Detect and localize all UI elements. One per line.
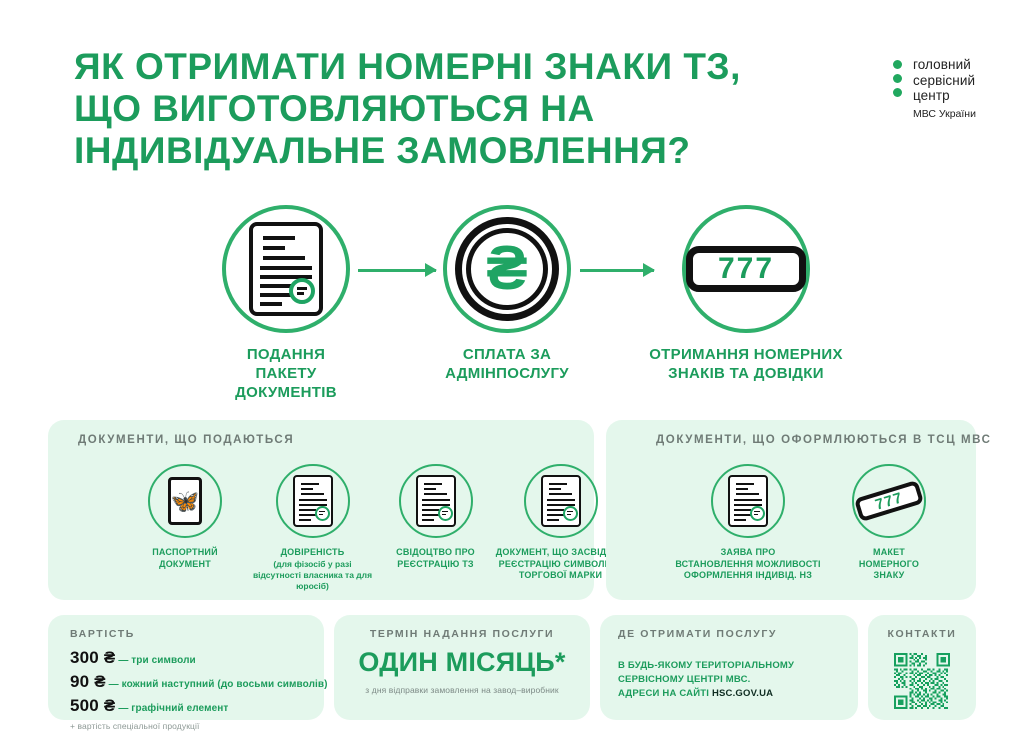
documents-issued-title: ДОКУМЕНТИ, ЩО ОФОРМЛЮЮТЬСЯ В ТСЦ МВС	[656, 434, 992, 446]
cost-row: 90 ₴ — кожний наступний (до восьми симво…	[70, 672, 328, 694]
doc-circle	[399, 464, 473, 538]
license-plate-tilted-icon: 777	[854, 480, 924, 522]
qr-code-icon[interactable]	[894, 653, 950, 709]
where-card: ДЕ ОТРИМАТИ ПОСЛУГУ В БУДЬ-ЯКОМУ ТЕРИТОР…	[600, 615, 858, 720]
cost-amount: 500 ₴	[70, 696, 115, 715]
title-line-3: ІНДИВІДУАЛЬНЕ ЗАМОВЛЕННЯ?	[74, 130, 834, 172]
flow-step-1-circle	[222, 205, 350, 333]
flow-arrow-1-icon	[358, 269, 436, 272]
cost-row: 300 ₴ — три символи	[70, 648, 328, 670]
document-icon	[249, 222, 323, 316]
cost-amount: 90 ₴	[70, 672, 106, 691]
cost-note: + вартість спеціальної продукції	[70, 721, 328, 731]
doc-item-vehicle-registration-label: СВІДОЦТВО ПРО РЕЄСТРАЦІЮ ТЗ	[378, 547, 493, 570]
flow-step-3: 777 ОТРИМАННЯ НОМЕРНИХ ЗНАКІВ ТА ДОВІДКИ	[650, 205, 842, 383]
term-value: ОДИН МІСЯЦЬ*	[334, 648, 590, 676]
header: ЯК ОТРИМАТИ НОМЕРНІ ЗНАКИ ТЗ, ЩО ВИГОТОВ…	[0, 0, 1024, 200]
flow-step-2-label: СПЛАТА ЗА АДМІНПОСЛУГУ	[443, 345, 571, 383]
doc-item-vehicle-registration: СВІДОЦТВО ПРО РЕЄСТРАЦІЮ ТЗ	[378, 464, 493, 570]
document-icon	[416, 475, 456, 527]
logo-line-2: сервісний	[913, 73, 976, 89]
where-line-3-prefix: АДРЕСИ НА САЙТІ	[618, 688, 712, 699]
where-body: В БУДЬ-ЯКОМУ ТЕРИТОРІАЛЬНОМУ СЕРВІСНОМУ …	[618, 659, 794, 701]
cost-desc: — кожний наступний	[106, 679, 218, 690]
flow-arrow-2-icon	[580, 269, 654, 272]
doc-circle	[524, 464, 598, 538]
flow-step-2-circle: ₴	[443, 205, 571, 333]
doc-item-power-of-attorney-label: ДОВІРЕНІСТЬ	[250, 547, 375, 559]
where-line-1: В БУДЬ-ЯКОМУ ТЕРИТОРІАЛЬНОМУ	[618, 659, 794, 673]
hryvnia-coin-icon: ₴	[455, 217, 559, 321]
doc-item-passport: 🦋 ПАСПОРТНИЙ ДОКУМЕНТ	[130, 464, 240, 570]
license-plate-icon: 777	[686, 246, 806, 292]
document-icon	[541, 475, 581, 527]
doc-item-power-of-attorney-sub: (для фізосіб у разі відсутності власника…	[250, 559, 375, 592]
title-line-1: ЯК ОТРИМАТИ НОМЕРНІ ЗНАКИ ТЗ,	[74, 46, 834, 88]
doc-item-application: ЗАЯВА ПРО ВСТАНОВЛЕННЯ МОЖЛИВОСТІ ОФОРМЛ…	[668, 464, 828, 582]
flow-step-1: ПОДАННЯ ПАКЕТУ ДОКУМЕНТІВ	[222, 205, 350, 402]
logo-line-1: головний	[913, 57, 976, 73]
contacts-card: КОНТАКТИ	[868, 615, 976, 720]
documents-submitted-title: ДОКУМЕНТИ, ЩО ПОДАЮТЬСЯ	[78, 434, 294, 446]
documents-issued-panel: ДОКУМЕНТИ, ЩО ОФОРМЛЮЮТЬСЯ В ТСЦ МВС	[606, 420, 976, 600]
where-line-2: СЕРВІСНОМУ ЦЕНТРІ МВС.	[618, 673, 794, 687]
logo-subtitle: МВС України	[913, 107, 976, 121]
hryvnia-symbol: ₴	[455, 217, 559, 321]
doc-circle	[276, 464, 350, 538]
documents-submitted-panel: ДОКУМЕНТИ, ЩО ПОДАЮТЬСЯ 🦋 ПАСПОРТНИЙ ДОК…	[48, 420, 594, 600]
doc-item-application-label: ЗАЯВА ПРО ВСТАНОВЛЕННЯ МОЖЛИВОСТІ ОФОРМЛ…	[668, 547, 828, 582]
doc-item-passport-label: ПАСПОРТНИЙ ДОКУМЕНТ	[130, 547, 240, 570]
plate-mockup-number: 777	[873, 490, 904, 513]
term-card-title: ТЕРМІН НАДАННЯ ПОСЛУГИ	[334, 628, 590, 640]
doc-circle: 🦋	[148, 464, 222, 538]
tryzub-icon: 🦋	[171, 490, 200, 513]
term-card: ТЕРМІН НАДАННЯ ПОСЛУГИ ОДИН МІСЯЦЬ* з дн…	[334, 615, 590, 720]
plate-number: 777	[718, 254, 774, 284]
where-card-title: ДЕ ОТРИМАТИ ПОСЛУГУ	[618, 628, 777, 640]
cost-desc: — графічний елемент	[115, 703, 228, 714]
logo-text: головний сервісний центр МВС України	[913, 57, 976, 121]
where-site-link[interactable]: HSC.GOV.UA	[712, 688, 773, 699]
cost-desc: — три символи	[115, 655, 195, 666]
contacts-card-title: КОНТАКТИ	[868, 628, 976, 640]
term-note: з дня відправки замовлення на завод–виро…	[334, 685, 590, 695]
logo-dots-icon	[893, 60, 903, 102]
document-icon	[293, 475, 333, 527]
page-title: ЯК ОТРИМАТИ НОМЕРНІ ЗНАКИ ТЗ, ЩО ВИГОТОВ…	[74, 46, 834, 172]
doc-item-power-of-attorney: ДОВІРЕНІСТЬ (для фізосіб у разі відсутно…	[250, 464, 375, 592]
cost-row: 500 ₴ — графічний елемент	[70, 696, 328, 718]
title-line-2: ЩО ВИГОТОВЛЯЮТЬСЯ НА	[74, 88, 834, 130]
flow-step-3-circle: 777	[682, 205, 810, 333]
flow-step-2: ₴ СПЛАТА ЗА АДМІНПОСЛУГУ	[443, 205, 571, 383]
doc-item-plate-mockup: 777 МАКЕТ НОМЕРНОГО ЗНАКУ	[834, 464, 944, 582]
cost-extra: (до восьми символів)	[217, 679, 327, 690]
doc-circle	[711, 464, 785, 538]
cost-card-title: ВАРТІСТЬ	[70, 628, 135, 640]
cost-amount: 300 ₴	[70, 648, 115, 667]
where-line-3: АДРЕСИ НА САЙТІ HSC.GOV.UA	[618, 687, 794, 701]
doc-circle: 777	[852, 464, 926, 538]
flow-step-3-label: ОТРИМАННЯ НОМЕРНИХ ЗНАКІВ ТА ДОВІДКИ	[626, 345, 866, 383]
cost-list: 300 ₴ — три символи 90 ₴ — кожний наступ…	[70, 648, 328, 731]
passport-icon: 🦋	[168, 477, 202, 525]
process-flow: ПОДАННЯ ПАКЕТУ ДОКУМЕНТІВ ₴ СПЛАТА ЗА АД…	[0, 205, 1024, 410]
doc-item-plate-mockup-label: МАКЕТ НОМЕРНОГО ЗНАКУ	[834, 547, 944, 582]
document-icon	[728, 475, 768, 527]
logo-line-3: центр	[913, 88, 976, 104]
flow-step-1-label: ПОДАННЯ ПАКЕТУ ДОКУМЕНТІВ	[222, 345, 350, 402]
infographic-page: ЯК ОТРИМАТИ НОМЕРНІ ЗНАКИ ТЗ, ЩО ВИГОТОВ…	[0, 0, 1024, 745]
cost-card: ВАРТІСТЬ 300 ₴ — три символи 90 ₴ — кожн…	[48, 615, 324, 720]
